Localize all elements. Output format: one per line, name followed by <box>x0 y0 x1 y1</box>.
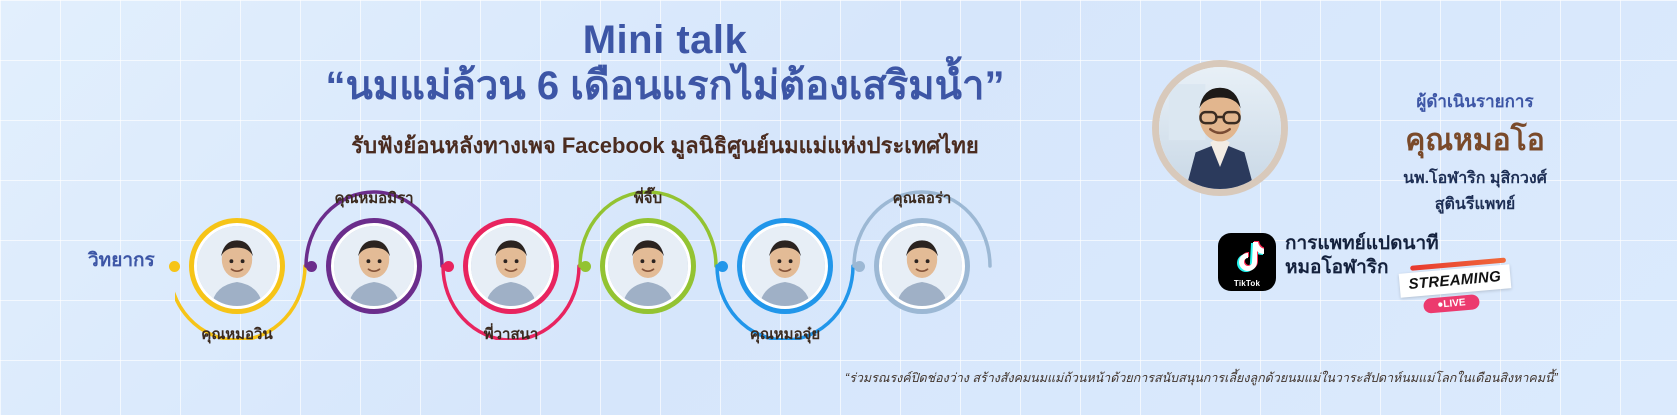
speaker-portrait-icon <box>608 226 688 306</box>
speaker-item[interactable]: คุณหมอวิน <box>189 218 285 314</box>
speaker-name: คุณหมอวิน <box>201 322 272 346</box>
speaker-item[interactable]: คุณหมอจุ๋ย <box>737 218 833 314</box>
speaker-avatar-ring <box>326 218 422 314</box>
speaker-name: คุณลอร่า <box>893 186 952 210</box>
speaker-avatar <box>468 223 554 309</box>
speaker-name: พี่จี๊บ <box>634 186 662 210</box>
host-name: คุณหมอโอ <box>1300 117 1650 164</box>
host-full-name: นพ.โอฬาริก มุสิกวงศ์ <box>1300 168 1650 190</box>
host-portrait-icon <box>1159 67 1281 189</box>
speaker-item[interactable]: คุณลอร่า <box>874 218 970 314</box>
tiktok-logo[interactable]: TikTok <box>1218 233 1276 291</box>
headline-subtitle: รับฟังย้อนหลังทางเพจ Facebook มูลนิธิศูน… <box>250 128 1080 163</box>
speaker-item[interactable]: พี่วาสนา <box>463 218 559 314</box>
host-info: ผู้ดำเนินรายการ คุณหมอโอ นพ.โอฬาริก มุสิ… <box>1300 88 1650 215</box>
speaker-portrait-icon <box>334 226 414 306</box>
speaker-connector-dot <box>580 261 591 272</box>
speaker-avatar <box>194 223 280 309</box>
speaker-connector-dot <box>306 261 317 272</box>
tiktok-wordmark: TikTok <box>1218 279 1276 288</box>
speaker-connector-dot <box>854 261 865 272</box>
speaker-avatar-ring <box>189 218 285 314</box>
speaker-avatar <box>742 223 828 309</box>
speaker-avatar <box>605 223 691 309</box>
host-avatar <box>1152 60 1288 196</box>
tiktok-icon: TikTok <box>1218 233 1276 291</box>
speaker-portrait-icon <box>882 226 962 306</box>
speaker-portrait-icon <box>745 226 825 306</box>
mini-talk-banner: Mini talk “นมแม่ล้วน 6 เดือนแรกไม่ต้องเส… <box>0 0 1677 415</box>
speaker-connector-dot <box>717 261 728 272</box>
speakers-section-label: วิทยากร <box>88 245 155 275</box>
speaker-avatar-ring <box>463 218 559 314</box>
headline-block: Mini talk “นมแม่ล้วน 6 เดือนแรกไม่ต้องเส… <box>250 18 1080 163</box>
live-badge: ●LIVE <box>1423 294 1480 314</box>
speaker-avatar <box>331 223 417 309</box>
speaker-avatar <box>879 223 965 309</box>
speaker-name: คุณหมอมิรา <box>334 186 413 210</box>
speaker-avatar-ring <box>874 218 970 314</box>
footer-caption: “ร่วมรณรงค์ปิดช่องว่าง สร้างสังคมนมแม่ถ้… <box>845 368 1558 388</box>
speaker-connector-dot <box>169 261 180 272</box>
speaker-item[interactable]: พี่จี๊บ <box>600 218 696 314</box>
speaker-portrait-icon <box>197 226 277 306</box>
host-specialty: สูตินรีแพทย์ <box>1300 194 1650 216</box>
speaker-avatar-ring <box>600 218 696 314</box>
speaker-connector-dot <box>443 261 454 272</box>
speakers-row: คุณหมอวินคุณหมอมิราพี่วาสนาพี่จี๊บคุณหมอ… <box>175 190 1015 340</box>
speaker-portrait-icon <box>471 226 551 306</box>
speaker-item[interactable]: คุณหมอมิรา <box>326 218 422 314</box>
host-role: ผู้ดำเนินรายการ <box>1300 88 1650 115</box>
page-title: Mini talk <box>250 18 1080 62</box>
headline-quote: “นมแม่ล้วน 6 เดือนแรกไม่ต้องเสริมน้ำ” <box>250 62 1080 110</box>
speaker-name: พี่วาสนา <box>484 322 539 346</box>
tiktok-note-icon <box>1234 241 1264 273</box>
speaker-avatar-ring <box>737 218 833 314</box>
streaming-label: STREAMING <box>1408 268 1502 293</box>
speaker-name: คุณหมอจุ๋ย <box>750 322 820 346</box>
channel-line-1: การแพทย์แปดนาที <box>1285 232 1439 256</box>
streaming-badge: STREAMING ●LIVE <box>1398 257 1513 315</box>
